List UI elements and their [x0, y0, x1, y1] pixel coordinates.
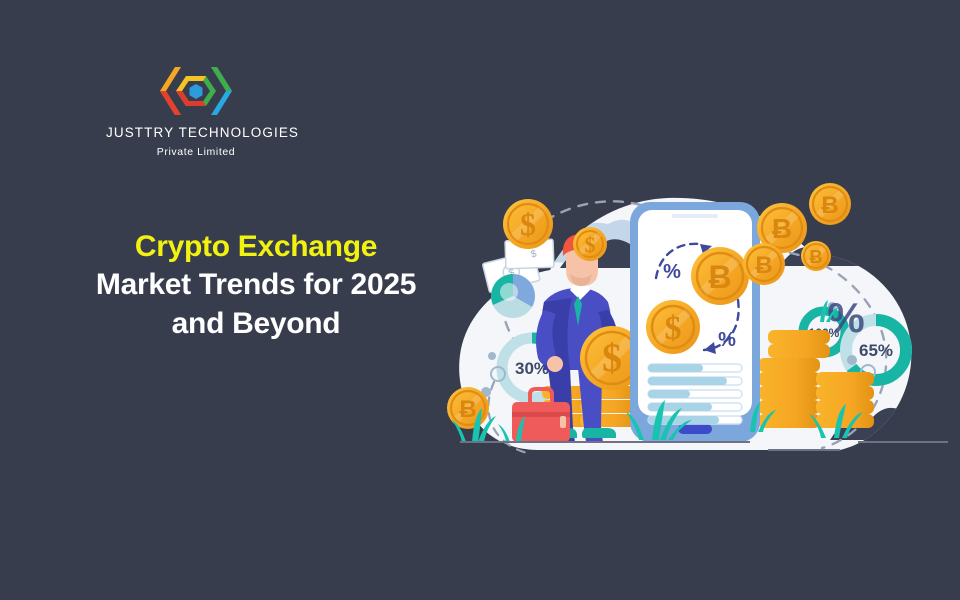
svg-text:Ƀ: Ƀ	[459, 396, 476, 423]
list-row	[648, 364, 742, 372]
coin-dollar-float-2: $	[573, 227, 607, 261]
brand-subtitle: Private Limited	[106, 146, 286, 158]
illustration-svg: $ $ 30% 100%	[420, 150, 960, 480]
list-row	[648, 377, 742, 385]
percent-symbol-screen-2: %	[718, 329, 736, 351]
phone-device[interactable]: % % Ƀ $	[630, 202, 760, 442]
coin-bitcoin-screen: Ƀ	[691, 247, 749, 305]
percent-symbol-screen-1: %	[663, 261, 681, 283]
svg-text:Ƀ: Ƀ	[772, 213, 792, 244]
pie-chart	[491, 274, 535, 318]
coin-dollar-held-symbol: $	[602, 335, 622, 380]
headline-line-1: Crypto Exchange	[36, 228, 476, 266]
coin-bitcoin-float-4: Ƀ	[801, 241, 831, 271]
brand-name: JUSTTRY TECHNOLOGIES	[106, 126, 286, 141]
svg-text:Ƀ: Ƀ	[755, 252, 772, 279]
brand-logo[interactable]: JUSTTRY TECHNOLOGIES Private Limited	[106, 62, 286, 158]
donut-65-label: 65%	[859, 341, 893, 360]
coin-bitcoin-float-2: Ƀ	[809, 183, 851, 225]
list-row	[648, 390, 742, 398]
percent-symbol-right: %	[827, 294, 864, 341]
coin-bitcoin-screen-symbol: Ƀ	[708, 259, 731, 295]
svg-text:Ƀ: Ƀ	[821, 192, 838, 219]
coin-dollar-screen: $	[646, 300, 700, 354]
svg-text:$: $	[585, 232, 596, 257]
headline-line-3: and Beyond	[36, 305, 476, 343]
svg-text:Ƀ: Ƀ	[810, 247, 823, 267]
coin-bitcoin-float-left: Ƀ	[447, 387, 489, 429]
svg-text:$: $	[520, 206, 536, 242]
banner-root: JUSTTRY TECHNOLOGIES Private Limited Cry…	[0, 0, 960, 600]
coin-dollar-screen-symbol: $	[665, 310, 682, 347]
coin-dollar-float-1: $	[503, 199, 553, 249]
coin-bitcoin-float-3: Ƀ	[743, 243, 785, 285]
headline-line-2: Market Trends for 2025	[36, 266, 476, 304]
hexagon-chevron-logo-icon	[158, 62, 234, 120]
crypto-exchange-illustration: $ $ 30% 100%	[420, 150, 960, 480]
page-title: Crypto Exchange Market Trends for 2025 a…	[36, 228, 476, 343]
